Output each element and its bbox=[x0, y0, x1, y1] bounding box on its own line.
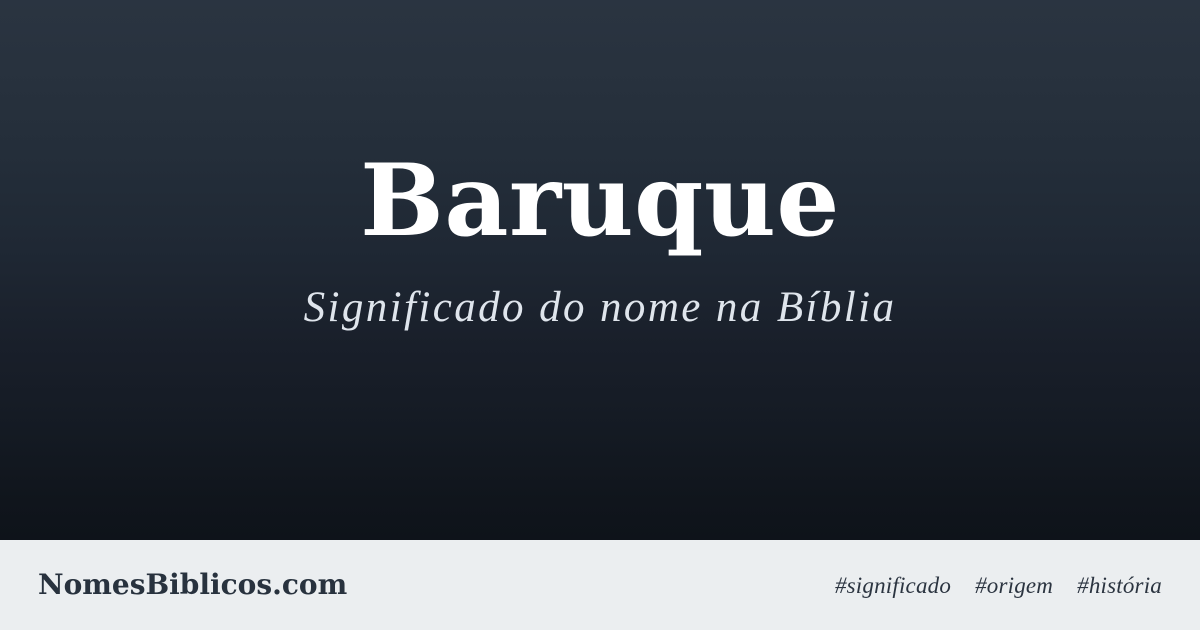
page-subtitle: Significado do nome na Bíblia bbox=[0, 251, 1200, 332]
hero-content: Baruque Significado do nome na Bíblia bbox=[0, 0, 1200, 332]
tag-list: #significado #origem #história bbox=[835, 574, 1162, 597]
page-title: Baruque bbox=[0, 152, 1200, 251]
hero-section: Baruque Significado do nome na Bíblia bbox=[0, 0, 1200, 540]
tag-historia[interactable]: #história bbox=[1077, 574, 1162, 597]
site-logo: NomesBiblicos.com bbox=[38, 571, 347, 599]
tag-significado[interactable]: #significado bbox=[835, 574, 951, 597]
tag-origem[interactable]: #origem bbox=[975, 574, 1053, 597]
share-card: Baruque Significado do nome na Bíblia No… bbox=[0, 0, 1200, 630]
card-footer: NomesBiblicos.com #significado #origem #… bbox=[0, 540, 1200, 630]
